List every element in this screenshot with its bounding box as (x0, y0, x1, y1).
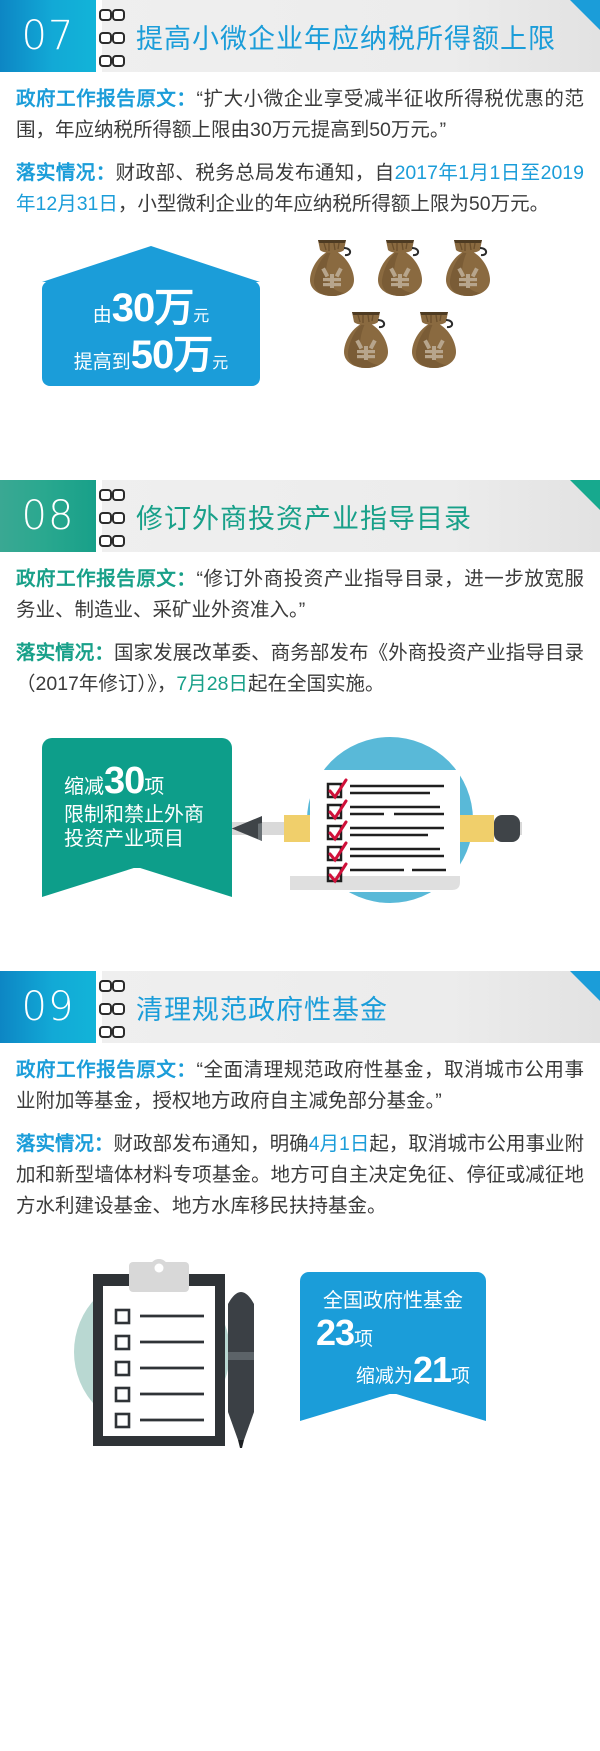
money-bag-icon (446, 240, 490, 296)
binding-ring-icon (99, 1003, 125, 1011)
binding-ring-icon (99, 489, 125, 497)
arrow-left-icon (232, 818, 258, 839)
money-bag-icon (412, 312, 456, 368)
paragraph-implementation: 落实情况：财政部发布通知，明确4月1日起，取消城市公用事业附加和新型墙体材料专项… (16, 1129, 584, 1222)
badge-content: 全国政府性基金 23项 缩减为21项 (300, 1284, 486, 1388)
section-07-illustration: 由30万元 提高到50万元 (0, 232, 600, 432)
paragraph-implementation: 落实情况：财政部、税务总局发布通知，自2017年1月1日至2019年12月31日… (16, 158, 584, 220)
badge-prefix: 缩减为 (356, 1366, 413, 1387)
section-07-header: 07 提高小微企业年应纳税所得额上限 (0, 0, 600, 72)
section-07: 07 提高小微企业年应纳税所得额上限 政府工作报告原文：“扩大小微企业享受减半征… (0, 0, 600, 432)
value-badge-09: 全国政府性基金 23项 缩减为21项 (300, 1272, 486, 1422)
section-number: 07 (22, 16, 75, 56)
badge-row-desc-1: 限制和禁止外商 (64, 805, 204, 825)
highlight-date: 7月28日 (176, 673, 248, 695)
highlight-date: 4月1日 (309, 1133, 370, 1155)
binding-ring-icon (99, 55, 125, 63)
section-09: 09 清理规范政府性基金 政府工作报告原文：“全面清理规范政府性基金，取消城市公… (0, 971, 600, 1454)
badge-row-after: 缩减为21项 (300, 1352, 486, 1389)
binding-ring-icon (99, 32, 125, 40)
badge-value: 21 (413, 1349, 451, 1390)
binding-ring-icon (99, 980, 125, 988)
paragraph-text: 财政部发布通知，明确 (114, 1133, 309, 1155)
badge-value: 23 (316, 1312, 354, 1353)
badge-row-desc-2: 投资产业项目 (64, 829, 204, 849)
money-bags-group (0, 232, 600, 432)
paragraph-label: 政府工作报告原文： (16, 88, 196, 110)
binding-ring-icon (99, 1026, 125, 1034)
corner-fold-triangle (570, 971, 600, 1001)
binding-rings (96, 971, 128, 1043)
badge-row-count: 缩减30项 (64, 762, 204, 801)
binding-ring-icon (99, 512, 125, 520)
paragraph-label: 政府工作报告原文： (16, 1059, 196, 1081)
section-07-body: 政府工作报告原文：“扩大小微企业享受减半征收所得税优惠的范围，年应纳税所得额上限… (0, 72, 600, 220)
badge-arrow-bottom (300, 1393, 486, 1421)
checklist-document (290, 770, 460, 892)
badge-unit: 项 (144, 776, 164, 798)
pen-icon (228, 1292, 254, 1448)
section-title: 修订外商投资产业指导目录 (136, 480, 472, 552)
corner-fold-triangle (570, 480, 600, 510)
section-number-block: 07 (0, 0, 96, 72)
binding-ring-icon (99, 9, 125, 17)
paragraph-text: 起在全国实施。 (248, 673, 385, 695)
section-number-block: 09 (0, 971, 96, 1043)
section-number: 09 (22, 987, 75, 1027)
binding-rings (96, 480, 128, 552)
paragraph-implementation: 落实情况：国家发展改革委、商务部发布《外商投资产业指导目录（2017年修订）》，… (16, 638, 584, 700)
corner-fold-triangle (570, 0, 600, 30)
paragraph-original-text: 政府工作报告原文：“扩大小微企业享受减半征收所得税优惠的范围，年应纳税所得额上限… (16, 84, 584, 146)
section-title: 清理规范政府性基金 (136, 971, 388, 1043)
paragraph-label: 落实情况： (16, 162, 116, 184)
section-number-block: 08 (0, 480, 96, 552)
clipboard-icon (93, 1259, 225, 1446)
paragraph-label: 落实情况： (16, 1133, 114, 1155)
binding-ring-icon (99, 535, 125, 543)
badge-prefix: 缩减 (64, 776, 104, 798)
paragraph-original-text: 政府工作报告原文：“全面清理规范政府性基金，取消城市公用事业附加等基金，授权地方… (16, 1055, 584, 1117)
badge-content: 缩减30项 限制和禁止外商 投资产业项目 (64, 762, 204, 854)
section-08: 08 修订外商投资产业指导目录 政府工作报告原文：“修订外商投资产业指导目录，进… (0, 480, 600, 927)
badge-unit: 项 (451, 1366, 470, 1387)
section-09-illustration: 全国政府性基金 23项 缩减为21项 (0, 1234, 600, 1454)
badge-unit: 项 (354, 1329, 373, 1350)
section-number: 08 (22, 496, 75, 536)
paragraph-label: 政府工作报告原文： (16, 568, 196, 590)
paragraph-original-text: 政府工作报告原文：“修订外商投资产业指导目录，进一步放宽服务业、制造业、采矿业外… (16, 564, 584, 626)
section-09-body: 政府工作报告原文：“全面清理规范政府性基金，取消城市公用事业附加等基金，授权地方… (0, 1043, 600, 1222)
badge-row-before: 23项 (300, 1315, 486, 1352)
section-08-body: 政府工作报告原文：“修订外商投资产业指导目录，进一步放宽服务业、制造业、采矿业外… (0, 552, 600, 700)
binding-rings (96, 0, 128, 72)
section-08-illustration: 缩减30项 限制和禁止外商 投资产业项目 (0, 712, 600, 927)
badge-value: 30 (104, 760, 144, 802)
money-bag-icon (378, 240, 422, 296)
section-title: 提高小微企业年应纳税所得额上限 (136, 0, 556, 72)
section-08-header: 08 修订外商投资产业指导目录 (0, 480, 600, 552)
paragraph-text: ，小型微利企业的年应纳税所得额上限为50万元。 (118, 193, 549, 215)
paragraph-label: 落实情况： (16, 642, 114, 664)
money-bag-icon (344, 312, 388, 368)
badge-title: 全国政府性基金 (300, 1284, 486, 1313)
badge-arrow-bottom (42, 867, 232, 897)
section-09-header: 09 清理规范政府性基金 (0, 971, 600, 1043)
value-badge-08: 缩减30项 限制和禁止外商 投资产业项目 (42, 738, 232, 898)
paragraph-text: 财政部、税务总局发布通知，自 (116, 162, 395, 184)
money-bag-icon (310, 240, 354, 296)
